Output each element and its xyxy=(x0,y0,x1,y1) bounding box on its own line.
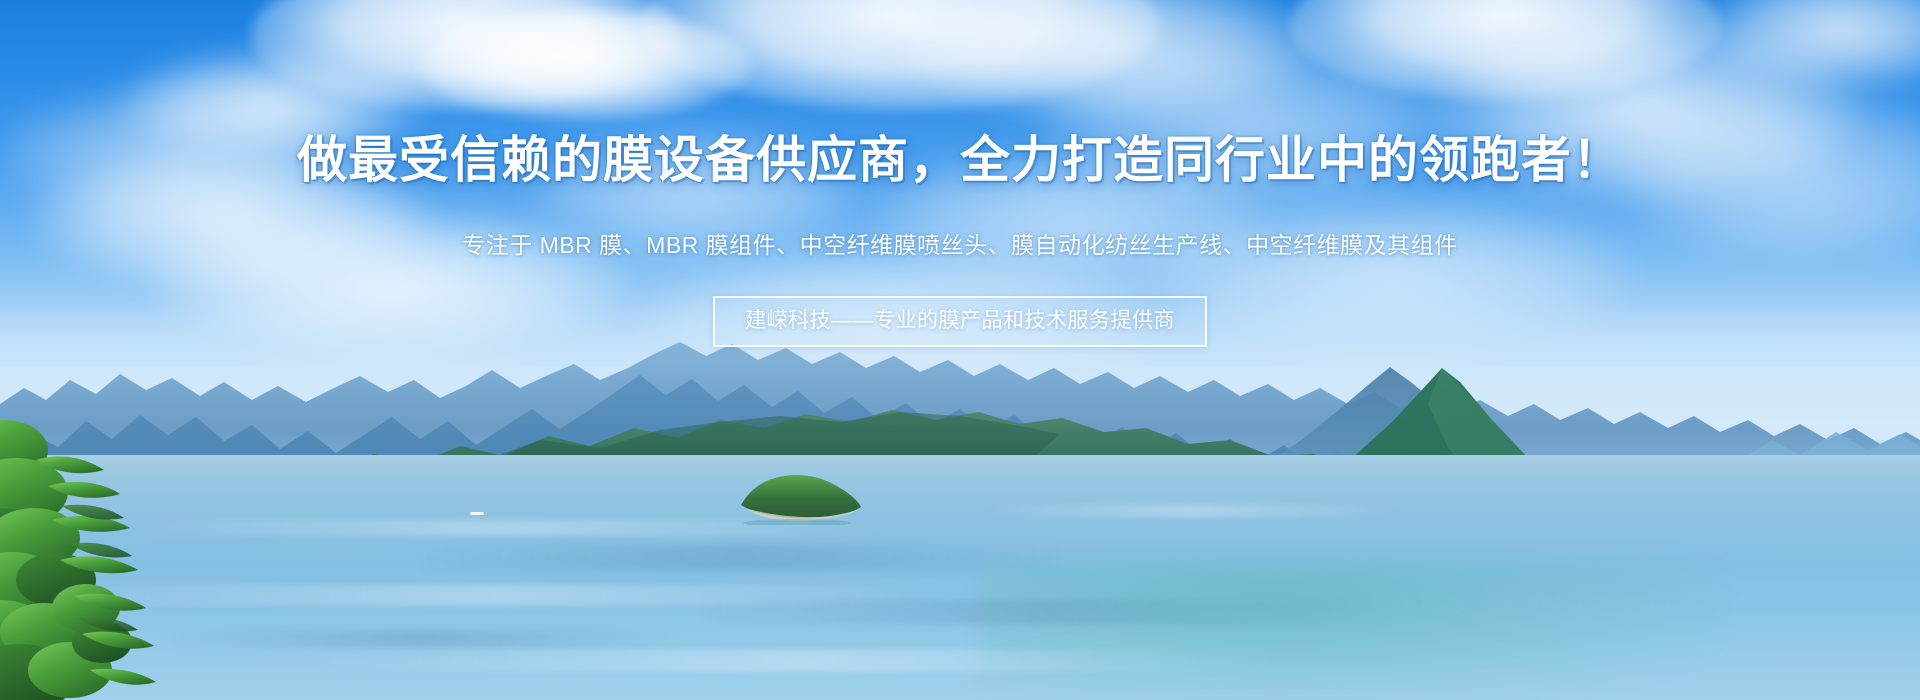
tagline-badge: 建嵘科技——专业的膜产品和技术服务提供商 xyxy=(713,296,1207,347)
hero-banner: 做最受信赖的膜设备供应商，全力打造同行业中的领跑者！ 专注于 MBR 膜、MBR… xyxy=(0,0,1920,700)
tagline-container: 建嵘科技——专业的膜产品和技术服务提供商 xyxy=(0,296,1920,347)
subtitle: 专注于 MBR 膜、MBR 膜组件、中空纤维膜喷丝头、膜自动化纺丝生产线、中空纤… xyxy=(0,228,1920,262)
text-overlay: 做最受信赖的膜设备供应商，全力打造同行业中的领跑者！ 专注于 MBR 膜、MBR… xyxy=(0,0,1920,700)
page-title: 做最受信赖的膜设备供应商，全力打造同行业中的领跑者！ xyxy=(0,128,1920,192)
